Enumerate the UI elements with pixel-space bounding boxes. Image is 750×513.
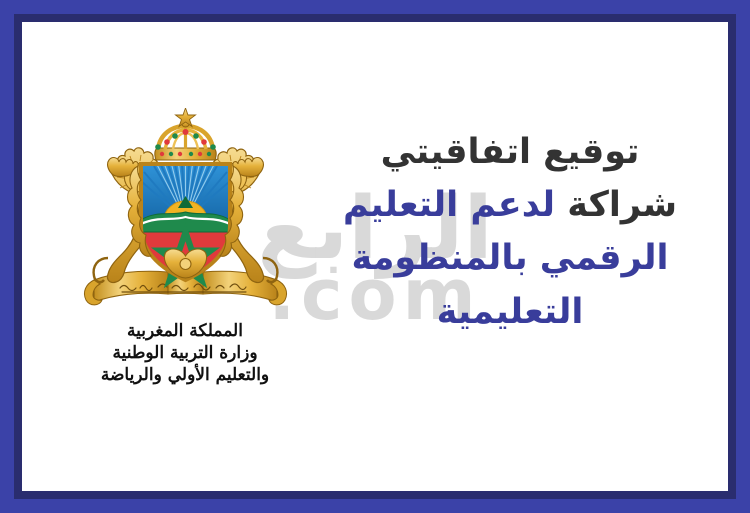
poster-frame-outer: الرابع .com (0, 0, 750, 513)
ministry-line-2: وزارة التربية الوطنية (60, 342, 310, 364)
headline-line-2-dark-part: شراكة (567, 185, 677, 225)
ministry-name-block: المملكة المغربية وزارة التربية الوطنية و… (60, 320, 310, 386)
emblem-column: المملكة المغربية وزارة التربية الوطنية و… (60, 108, 310, 386)
headline-line-4: التعليمية (310, 286, 710, 339)
ministry-line-3: والتعليم الأولي والرياضة (60, 364, 310, 386)
headline-line-3: الرقمي بالمنظومة (310, 232, 710, 285)
ministry-line-1: المملكة المغربية (60, 320, 310, 342)
headline-block: توقيع اتفاقيتي شراكة لدعم التعليم الرقمي… (310, 126, 710, 339)
coat-of-arms-icon (68, 108, 303, 316)
headline-line-2: شراكة لدعم التعليم (310, 179, 710, 232)
poster-content-area: الرابع .com (22, 22, 728, 491)
emblem-crown (154, 108, 215, 160)
headline-line-2-blue-part: لدعم التعليم (343, 185, 555, 225)
poster-frame-inner: الرابع .com (14, 14, 736, 499)
headline-line-1: توقيع اتفاقيتي (310, 126, 710, 179)
